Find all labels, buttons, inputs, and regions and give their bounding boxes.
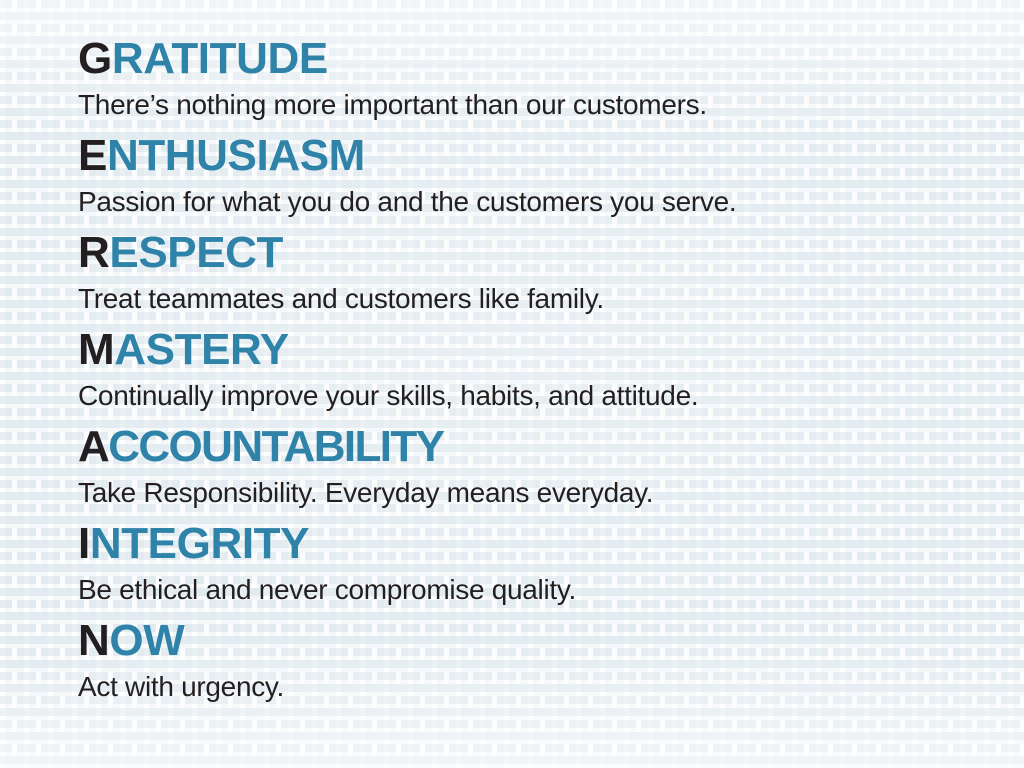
value-initial-letter: R [78,228,109,277]
value-description: Passion for what you do and the customer… [78,181,1008,222]
value-heading-rest: NTHUSIASM [107,131,365,180]
core-values-list: GRATITUDE There’s nothing more important… [78,34,1008,713]
value-heading: MASTERY [78,325,1008,375]
value-initial-letter: E [78,131,107,180]
values-poster: GRATITUDE There’s nothing more important… [0,0,1024,768]
value-row: INTEGRITY Be ethical and never compromis… [78,519,1008,610]
value-heading: NOW [78,616,1008,666]
value-heading: ACCOUNTABILITY [78,422,1008,472]
value-heading-rest: ESPECT [109,228,283,277]
value-row: GRATITUDE There’s nothing more important… [78,34,1008,125]
value-description: Be ethical and never compromise quality. [78,569,1008,610]
value-initial-letter: N [78,616,109,665]
value-description: Treat teammates and customers like famil… [78,278,1008,319]
value-heading-rest: NTEGRITY [90,519,309,568]
value-heading: RESPECT [78,228,1008,278]
value-initial-letter: G [78,34,112,83]
value-row: ENTHUSIASM Passion for what you do and t… [78,131,1008,222]
value-description: Continually improve your skills, habits,… [78,375,1008,416]
value-row: ACCOUNTABILITY Take Responsibility. Ever… [78,422,1008,513]
value-heading-rest: ASTERY [114,325,288,374]
value-row: NOW Act with urgency. [78,616,1008,707]
value-heading-rest: CCOUNTABILITY [108,422,443,471]
value-row: MASTERY Continually improve your skills,… [78,325,1008,416]
value-description: There’s nothing more important than our … [78,84,1008,125]
value-initial-letter: A [78,422,108,471]
value-heading: GRATITUDE [78,34,1008,84]
value-row: RESPECT Treat teammates and customers li… [78,228,1008,319]
value-initial-letter: I [78,519,90,568]
value-heading: INTEGRITY [78,519,1008,569]
value-heading-rest: RATITUDE [112,34,328,83]
value-description: Act with urgency. [78,666,1008,707]
value-description: Take Responsibility. Everyday means ever… [78,472,1008,513]
value-heading-rest: OW [109,616,184,665]
value-initial-letter: M [78,325,114,374]
value-heading: ENTHUSIASM [78,131,1008,181]
